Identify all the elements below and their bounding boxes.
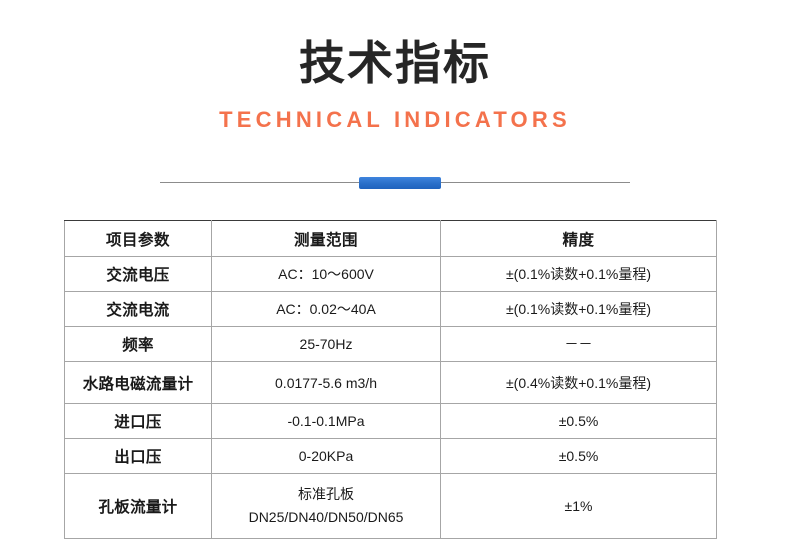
specifications-table: 项目参数 测量范围 精度 交流电压 AC：10～600V ±(0.1%读数+0.… xyxy=(64,220,717,539)
column-header-range: 测量范围 xyxy=(212,221,441,257)
cell-accuracy: ±(0.4%读数+0.1%量程) xyxy=(441,362,717,404)
cell-range: 25-70Hz xyxy=(212,327,441,362)
cell-range: AC：0.02～40A xyxy=(212,292,441,327)
cell-parameter: 出口压 xyxy=(65,439,212,474)
cell-range: AC：10～600V xyxy=(212,257,441,292)
cell-accuracy: －－ xyxy=(441,327,717,362)
table-row: 进口压 -0.1-0.1MPa ±0.5% xyxy=(65,404,717,439)
table-row: 频率 25-70Hz －－ xyxy=(65,327,717,362)
cell-range: 标准孔板 DN25/DN40/DN50/DN65 xyxy=(212,474,441,539)
table-row: 出口压 0-20KPa ±0.5% xyxy=(65,439,717,474)
cell-parameter: 交流电压 xyxy=(65,257,212,292)
cell-range: 0.0177-5.6 m3/h xyxy=(212,362,441,404)
cell-parameter: 进口压 xyxy=(65,404,212,439)
table-header: 项目参数 测量范围 精度 xyxy=(65,221,717,257)
cell-parameter: 交流电流 xyxy=(65,292,212,327)
cell-range: 0-20KPa xyxy=(212,439,441,474)
column-header-accuracy: 精度 xyxy=(441,221,717,257)
cell-parameter: 频率 xyxy=(65,327,212,362)
divider-accent-bar xyxy=(359,177,441,189)
table-row: 水路电磁流量计 0.0177-5.6 m3/h ±(0.4%读数+0.1%量程) xyxy=(65,362,717,404)
page-subtitle: TECHNICAL INDICATORS xyxy=(0,90,790,133)
table-row: 交流电流 AC：0.02～40A ±(0.1%读数+0.1%量程) xyxy=(65,292,717,327)
page-header: 技术指标 TECHNICAL INDICATORS xyxy=(0,0,790,133)
table-row: 孔板流量计 标准孔板 DN25/DN40/DN50/DN65 ±1% xyxy=(65,474,717,539)
cell-accuracy: ±(0.1%读数+0.1%量程) xyxy=(441,292,717,327)
cell-accuracy: ±0.5% xyxy=(441,439,717,474)
table-row: 交流电压 AC：10～600V ±(0.1%读数+0.1%量程) xyxy=(65,257,717,292)
title-divider xyxy=(160,177,630,189)
table-body: 交流电压 AC：10～600V ±(0.1%读数+0.1%量程) 交流电流 AC… xyxy=(65,257,717,539)
cell-range: -0.1-0.1MPa xyxy=(212,404,441,439)
technical-indicators-page: 技术指标 TECHNICAL INDICATORS 项目参数 测量范围 精度 交… xyxy=(0,0,790,551)
cell-range-line-2: DN25/DN40/DN50/DN65 xyxy=(216,506,436,529)
cell-range-line-1: 标准孔板 xyxy=(216,483,436,506)
cell-accuracy: ±0.5% xyxy=(441,404,717,439)
cell-parameter: 水路电磁流量计 xyxy=(65,362,212,404)
cell-accuracy: ±1% xyxy=(441,474,717,539)
cell-accuracy: ±(0.1%读数+0.1%量程) xyxy=(441,257,717,292)
column-header-parameter: 项目参数 xyxy=(65,221,212,257)
table-header-row: 项目参数 测量范围 精度 xyxy=(65,221,717,257)
page-title: 技术指标 xyxy=(0,0,790,90)
cell-parameter: 孔板流量计 xyxy=(65,474,212,539)
